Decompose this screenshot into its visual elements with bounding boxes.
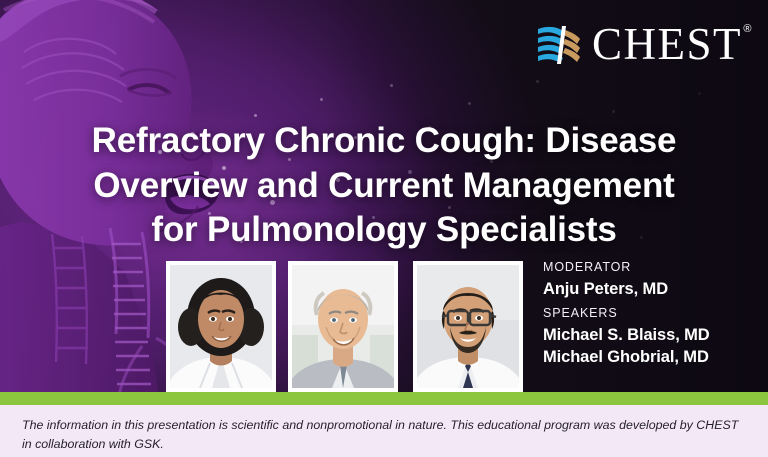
disclaimer-text: The information in this presentation is … [22, 416, 748, 454]
speakers-label: SPEAKERS [543, 304, 763, 323]
headshot-photo-michael-ghobrial [413, 261, 523, 392]
logo-wordmark-text: CHEST [592, 19, 742, 69]
chest-ribs-logo-icon [536, 24, 582, 66]
green-accent-bar [0, 392, 768, 405]
slide-title-line-1: Refractory Chronic Cough: Disease [14, 119, 754, 163]
headshot-photo-anju-peters [166, 261, 276, 392]
presentation-title-slide: CHEST® Refractory Chronic Cough: Disease… [0, 0, 768, 457]
slide-title-line-3: for Pulmonology Specialists [14, 208, 754, 252]
slide-title: Refractory Chronic Cough: Disease Overvi… [0, 119, 768, 252]
moderator-label: MODERATOR [543, 258, 763, 277]
chest-logo: CHEST® [536, 22, 742, 67]
hero-banner: CHEST® Refractory Chronic Cough: Disease… [0, 0, 768, 392]
slide-title-line-2: Overview and Current Management [14, 164, 754, 208]
moderator-name: Anju Peters, MD [543, 278, 763, 300]
registered-trademark-icon: ® [743, 24, 753, 35]
footer-bar: The information in this presentation is … [0, 405, 768, 457]
headshot-photo-michael-blaiss [288, 261, 398, 392]
speaker-name-1: Michael S. Blaiss, MD [543, 324, 763, 346]
speaker-name-2: Michael Ghobrial, MD [543, 346, 763, 368]
credits-panel: MODERATOR Anju Peters, MD SPEAKERS Micha… [543, 258, 763, 368]
logo-wordmark: CHEST® [592, 22, 742, 67]
